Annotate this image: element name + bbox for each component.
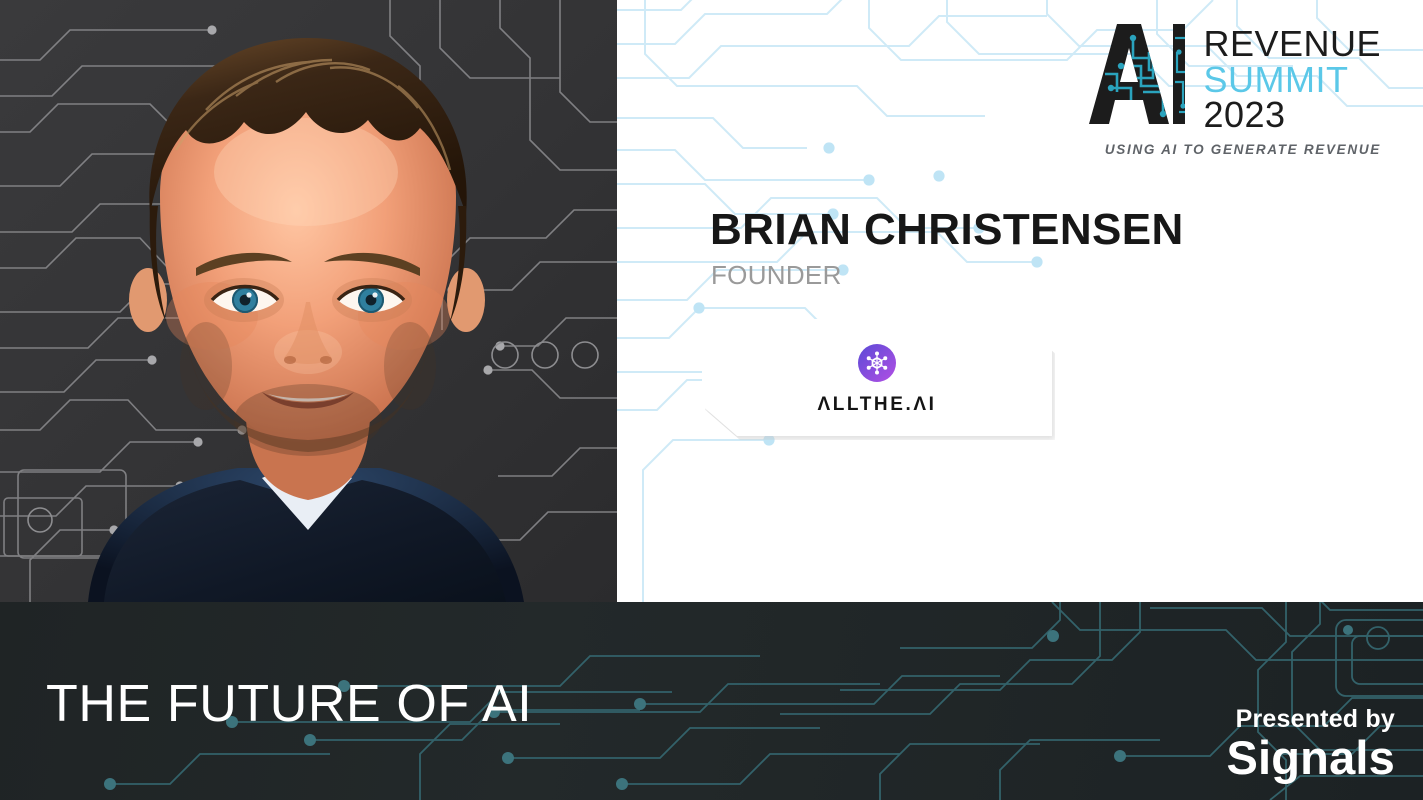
event-logo-wordmark: REVENUE SUMMIT 2023 [1203,22,1381,133]
presented-by-block: Presented by Signals [1226,707,1395,781]
speaker-name: BRIAN CHRISTENSEN [710,205,1184,255]
company-logo-card: ΛLLTHE.ΛI [702,319,1052,436]
event-logo: REVENUE SUMMIT 2023 USING AI TO GENERATE… [1087,22,1381,157]
event-logo-line-summit: SUMMIT [1203,62,1381,98]
speaker-slide: REVENUE SUMMIT 2023 USING AI TO GENERATE… [0,0,1423,800]
ai-monogram-icon [1087,22,1187,126]
event-logo-main: REVENUE SUMMIT 2023 [1087,22,1381,133]
presenter-name: Signals [1226,734,1395,781]
slide-title: THE FUTURE OF AI [46,674,532,734]
speaker-photo-panel [0,0,617,602]
company-wordmark: ΛLLTHE.ΛI [817,394,936,416]
event-logo-tagline: USING AI TO GENERATE REVENUE [1105,142,1381,157]
speaker-portrait [0,0,617,602]
event-logo-line-revenue: REVENUE [1203,26,1381,62]
network-hub-icon [858,344,896,382]
company-logo-card-face: ΛLLTHE.ΛI [702,319,1052,436]
bottom-banner: THE FUTURE OF AI Presented by Signals [0,602,1423,800]
presented-by-label: Presented by [1226,707,1395,732]
speaker-info-panel: REVENUE SUMMIT 2023 USING AI TO GENERATE… [617,0,1423,602]
event-logo-line-year: 2023 [1203,97,1381,133]
speaker-title: FOUNDER [711,260,842,291]
